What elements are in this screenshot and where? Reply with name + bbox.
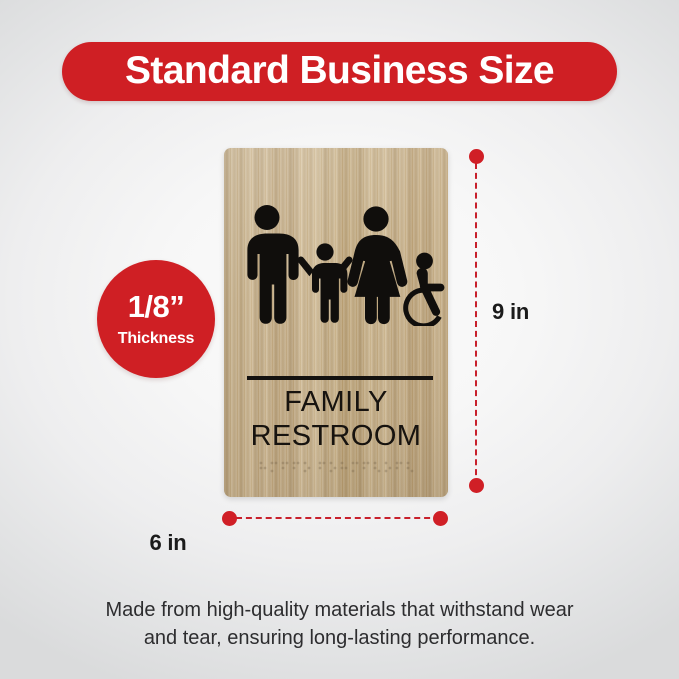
sign-text-line-2: RESTROOM bbox=[224, 420, 448, 454]
caption-line-1: Made from high-quality materials that wi… bbox=[50, 596, 629, 624]
height-dimension-endpoint-bottom bbox=[469, 478, 484, 493]
height-dimension-line bbox=[475, 163, 477, 485]
width-dimension-endpoint-left bbox=[222, 511, 237, 526]
child-pictogram bbox=[297, 243, 352, 322]
title-banner: Standard Business Size bbox=[62, 42, 617, 101]
width-dimension-label-text: 6 in bbox=[149, 530, 186, 555]
thickness-value: 1/8” bbox=[128, 291, 185, 322]
thickness-badge: 1/8” Thickness bbox=[97, 260, 215, 378]
family-restroom-sign: FAMILY RESTROOM bbox=[224, 148, 448, 497]
man-pictogram bbox=[247, 205, 298, 324]
pictogram-row bbox=[224, 204, 448, 326]
width-dimension-endpoint-right bbox=[433, 511, 448, 526]
wheelchair-accessible-pictogram bbox=[403, 253, 444, 326]
thickness-label: Thickness bbox=[118, 331, 194, 347]
page-title: Standard Business Size bbox=[125, 51, 554, 90]
width-dimension-label: 6 in bbox=[0, 530, 679, 556]
product-infographic: Standard Business Size 1/8” Thickness bbox=[0, 0, 679, 679]
sign-divider bbox=[247, 376, 433, 380]
braille-strip bbox=[258, 460, 414, 474]
caption: Made from high-quality materials that wi… bbox=[50, 596, 629, 653]
sign-text-line-1: FAMILY bbox=[224, 386, 448, 420]
height-dimension-endpoint-top bbox=[469, 149, 484, 164]
height-dimension-label: 9 in bbox=[492, 299, 529, 325]
caption-line-2: and tear, ensuring long-lasting performa… bbox=[50, 624, 629, 652]
width-dimension-line bbox=[236, 517, 440, 519]
sign-text: FAMILY RESTROOM bbox=[224, 386, 448, 454]
woman-pictogram bbox=[348, 206, 408, 324]
